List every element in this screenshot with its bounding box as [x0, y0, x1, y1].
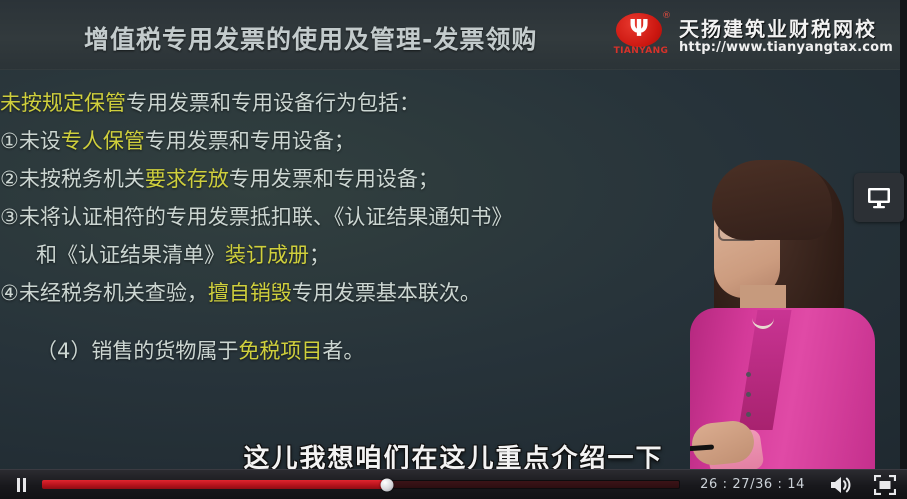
body-text: 专用发票和专用设备行为包括：: [126, 91, 420, 115]
progress-fill: [42, 480, 387, 489]
brand-mark-name: TIANYANG: [612, 46, 670, 56]
slide-body-line: 和《认证结果清单》装订成册；: [0, 236, 700, 274]
slide-body-line: ②未按税务机关要求存放专用发票和专用设备；: [0, 160, 700, 198]
presenter-button: [746, 392, 751, 397]
body-text: 专用发票和专用设备；: [229, 167, 439, 191]
body-text: ①未设: [0, 129, 61, 153]
pause-button[interactable]: [0, 470, 42, 499]
body-text: 者。: [322, 339, 364, 363]
highlighted-text: 擅自销毁: [208, 281, 292, 305]
pause-icon-bar-left: [17, 478, 20, 492]
body-text: 和《认证结果清单》: [36, 243, 225, 267]
video-stage[interactable]: 增值税专用发票的使用及管理-发票领购 Ψ ® TIANYANG 天扬建筑业财税网…: [0, 0, 907, 470]
volume-on-icon: [829, 475, 853, 495]
body-text: （4）销售的货物属于: [36, 339, 238, 363]
slide-body-line: ③未将认证相符的专用发票抵扣联、《认证结果通知书》: [0, 198, 700, 236]
psi-glyph: Ψ: [629, 18, 649, 41]
body-text: ；: [309, 243, 330, 267]
highlighted-text: 要求存放: [145, 167, 229, 191]
brand-name-cn: 天扬建筑业财税网校: [679, 19, 893, 39]
brand-url: http://www.tianyangtax.com: [679, 41, 893, 54]
presenter-figure: [690, 160, 875, 470]
display-toggle-button[interactable]: [854, 173, 904, 222]
highlighted-text: 专人保管: [61, 129, 145, 153]
highlighted-text: 装订成册: [225, 243, 309, 267]
brand-mark: Ψ ® TIANYANG: [612, 13, 670, 59]
brand-logo: Ψ ® TIANYANG 天扬建筑业财税网校 http://www.tianya…: [612, 12, 893, 60]
subtitle-text: 这儿我想咱们在这儿重点介绍一下: [0, 438, 907, 470]
player-control-bar: 26 : 27/36 : 14: [0, 469, 907, 499]
slide-body-line: 未按规定保管专用发票和专用设备行为包括：: [0, 84, 700, 122]
brand-text: 天扬建筑业财税网校 http://www.tianyangtax.com: [679, 19, 893, 54]
slide-body-line: （4）销售的货物属于免税项目者。: [0, 332, 700, 370]
highlighted-text: 免税项目: [238, 339, 322, 363]
progress-track[interactable]: [42, 480, 680, 489]
time-display: 26 : 27/36 : 14: [686, 477, 819, 492]
fullscreen-icon: [874, 475, 896, 495]
body-text: ④未经税务机关查验，: [0, 281, 208, 305]
volume-button[interactable]: [819, 470, 863, 499]
slide-body: 未按规定保管专用发票和专用设备行为包括：①未设专人保管专用发票和专用设备；②未按…: [0, 84, 700, 370]
slide-title: 增值税专用发票的使用及管理-发票领购: [84, 20, 654, 56]
stage-right-edge: [900, 0, 907, 470]
psi-disc-icon: Ψ: [616, 13, 662, 47]
progress-handle[interactable]: [380, 478, 393, 491]
slide-body-line: ④未经税务机关查验，擅自销毁专用发票基本联次。: [0, 274, 700, 312]
slide-line-gap: [0, 312, 700, 332]
body-text: 专用发票和专用设备；: [145, 129, 355, 153]
registered-trademark-icon: ®: [662, 11, 671, 21]
body-text: ③未将认证相符的专用发票抵扣联、《认证结果通知书》: [0, 205, 512, 229]
monitor-icon: [866, 186, 892, 210]
presenter-button: [746, 412, 751, 417]
highlighted-text: 未按规定保管: [0, 91, 126, 115]
progress-bar[interactable]: [42, 470, 680, 499]
presenter-button: [746, 372, 751, 377]
pause-icon-bar-right: [23, 478, 26, 492]
fullscreen-button[interactable]: [863, 470, 907, 499]
slide-body-line: ①未设专人保管专用发票和专用设备；: [0, 122, 700, 160]
body-text: 专用发票基本联次。: [292, 281, 481, 305]
presenter-hair-front: [712, 160, 832, 240]
body-text: ②未按税务机关: [0, 167, 145, 191]
video-player: 增值税专用发票的使用及管理-发票领购 Ψ ® TIANYANG 天扬建筑业财税网…: [0, 0, 907, 499]
